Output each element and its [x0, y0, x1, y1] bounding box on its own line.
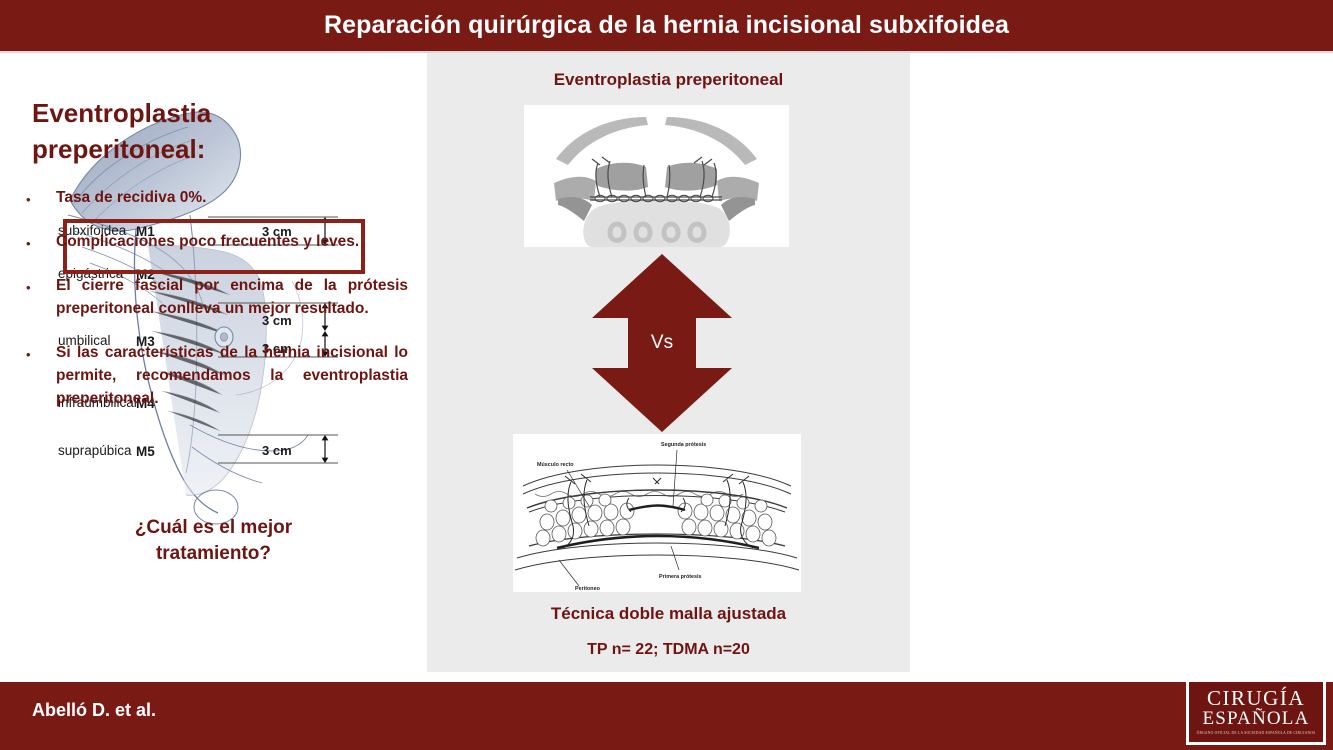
figure-label-musculo-recto: Músculo recto [537, 462, 574, 468]
figure-label-peritoneo: Peritoneo [575, 586, 601, 592]
list-item: • Tasa de recidiva 0%. [26, 186, 408, 209]
list-item: • Si las características de la hernia in… [26, 341, 408, 410]
double-mesh-technique-figure: Músculo recto Segunda prótesis Primera p… [513, 434, 801, 592]
slide-header: Reparación quirúrgica de la hernia incis… [0, 0, 1333, 51]
figure-label-segunda-protesis: Segunda prótesis [661, 442, 706, 448]
footer-author: Abelló D. et al. [32, 700, 156, 721]
bullet-point-icon: • [26, 230, 56, 250]
figure-label-primera-protesis: Primera prótesis [659, 574, 702, 580]
conclusions-title-line1: Eventroplastia [32, 95, 402, 131]
left-caption: ¿Cuál es el mejor tratamiento? [0, 515, 427, 567]
list-item: • Complicaciones poco frecuentes y leves… [26, 230, 408, 253]
preperitoneal-eventroplasty-figure [524, 105, 789, 247]
region-label-suprapubica: suprapúbica [58, 443, 132, 458]
journal-logo-subtitle: ÓRGANO OFICIAL DE LA SOCIEDAD ESPAÑOLA D… [1197, 730, 1316, 736]
bullet-point-icon: • [26, 186, 56, 206]
bullet-point-icon: • [26, 274, 56, 294]
list-item-text: Complicaciones poco frecuentes y leves. [56, 230, 408, 253]
right-column [910, 53, 1333, 672]
list-item: • El cierre fascial por encima de la pró… [26, 274, 408, 320]
list-item-text: Si las características de la hernia inci… [56, 341, 408, 410]
conclusions-title: Eventroplastia preperitoneal: [32, 95, 402, 167]
center-figure-title: Eventroplastia preperitoneal [427, 70, 910, 90]
left-caption-line1: ¿Cuál es el mejor [0, 515, 427, 541]
journal-logo-inner: CIRUGÍA ESPAÑOLA ÓRGANO OFICIAL DE LA SO… [1189, 682, 1323, 742]
bullet-point-icon: • [26, 341, 56, 361]
slide-footer [0, 682, 1333, 750]
measure-m5: 3 cm [262, 443, 292, 458]
journal-logo-line1: CIRUGÍA [1207, 688, 1305, 709]
center-sample-sizes: TP n= 22; TDMA n=20 [427, 641, 910, 659]
versus-double-arrow-icon [592, 254, 732, 432]
journal-logo-line2: ESPAÑOLA [1202, 709, 1309, 729]
region-code-m5: M5 [136, 444, 155, 459]
center-figure-caption: Técnica doble malla ajustada [427, 604, 910, 624]
slide: Reparación quirúrgica de la hernia incis… [0, 0, 1333, 750]
page-title: Reparación quirúrgica de la hernia incis… [324, 11, 1009, 40]
journal-logo: CIRUGÍA ESPAÑOLA ÓRGANO OFICIAL DE LA SO… [1186, 679, 1326, 745]
left-caption-line2: tratamiento? [0, 541, 427, 567]
conclusions-bullet-list: • Tasa de recidiva 0%. • Complicaciones … [26, 186, 408, 431]
list-item-text: Tasa de recidiva 0%. [56, 186, 408, 209]
list-item-text: El cierre fascial por encima de la próte… [56, 274, 408, 320]
conclusions-title-line2: preperitoneal: [32, 131, 402, 167]
